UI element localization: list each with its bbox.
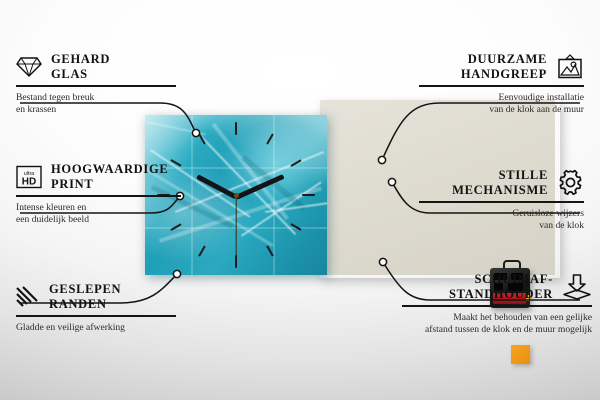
divider — [16, 315, 176, 317]
gear-icon — [557, 169, 584, 196]
feature-title: GESLEPEN RANDEN — [49, 282, 121, 311]
feature-header: GESLEPEN RANDEN — [16, 282, 176, 311]
feature-subtitle: Bestand tegen breuk en krassen — [16, 92, 176, 118]
feature-geslepen-randen: GESLEPEN RANDEN Gladde en veilige afwerk… — [16, 282, 176, 334]
feature-stille-mechanisme: STILLE MECHANISME Geruisloze wijzers van… — [419, 168, 584, 233]
feature-title: DUURZAME HANDGREEP — [461, 52, 547, 81]
feature-subtitle: Geruisloze wijzers van de klok — [419, 208, 584, 234]
feature-header: SCHUIMAF- STANDHOUDER — [402, 272, 592, 301]
feature-header: GEHARD GLAS — [16, 52, 176, 81]
feature-title: STILLE MECHANISME — [452, 168, 548, 197]
diagonal-lines-icon — [16, 286, 40, 308]
divider — [419, 201, 584, 203]
divider — [16, 195, 181, 197]
svg-text:HD: HD — [22, 176, 36, 187]
feature-subtitle: Eenvoudige installatie van de klok aan d… — [419, 92, 584, 118]
feature-hoogwaardige-print: ultra HD HOOGWAARDIGE PRINT Intense kleu… — [16, 162, 181, 227]
foam-spacer — [511, 345, 530, 364]
feature-title: GEHARD GLAS — [51, 52, 110, 81]
infographic-canvas: GEHARD GLAS Bestand tegen breuk en krass… — [0, 0, 600, 400]
press-down-pad-icon — [562, 273, 592, 301]
divider — [402, 305, 592, 307]
picture-frame-icon — [556, 54, 584, 80]
feature-subtitle: Gladde en veilige afwerking — [16, 322, 176, 335]
feature-title: SCHUIMAF- STANDHOUDER — [449, 272, 553, 301]
feature-header: DUURZAME HANDGREEP — [419, 52, 584, 81]
divider — [16, 85, 176, 87]
feature-header: ultra HD HOOGWAARDIGE PRINT — [16, 162, 181, 191]
ultra-hd-icon: ultra HD — [16, 165, 42, 189]
feature-subtitle: Intense kleuren en een duidelijk beeld — [16, 202, 181, 228]
feature-schuimafstandhouder: SCHUIMAF- STANDHOUDER Maakt het behouden… — [402, 272, 592, 337]
feature-header: STILLE MECHANISME — [419, 168, 584, 197]
feature-title: HOOGWAARDIGE PRINT — [51, 162, 168, 191]
diamond-icon — [16, 56, 42, 78]
feature-gehard-glas: GEHARD GLAS Bestand tegen breuk en krass… — [16, 52, 176, 117]
feature-duurzame-handgreep: DUURZAME HANDGREEP Eenvoudige installati… — [419, 52, 584, 117]
feature-subtitle: Maakt het behouden van een gelijke afsta… — [402, 312, 592, 338]
divider — [419, 85, 584, 87]
